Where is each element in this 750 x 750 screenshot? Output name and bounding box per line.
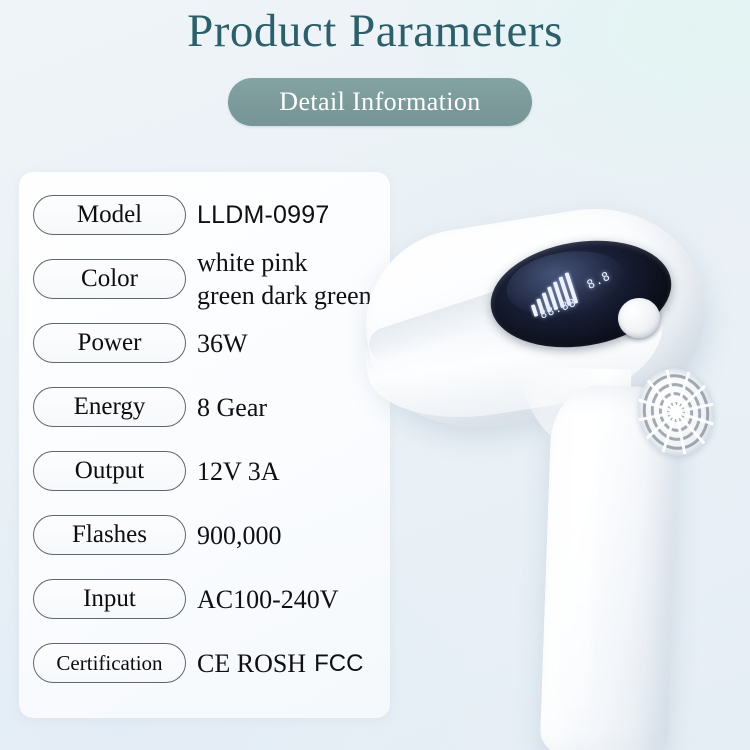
spec-label-certification: Certification	[33, 643, 186, 683]
detail-information-badge: Detail Information	[228, 78, 532, 126]
spec-value-color-line2: green dark green	[197, 279, 372, 312]
spec-value-energy: 8 Gear	[197, 387, 267, 427]
spec-label-input: Input	[33, 579, 186, 619]
spec-label-flashes: Flashes	[33, 515, 186, 555]
spec-value-color: white pink green dark green	[197, 243, 372, 315]
product-parameters-infographic: Product Parameters Detail Information Mo…	[0, 0, 750, 750]
spec-value-model: LLDM-0997	[197, 195, 329, 235]
spec-label-model: Model	[33, 195, 186, 235]
page-title: Product Parameters	[0, 2, 750, 60]
spec-value-output: 12V 3A	[197, 451, 280, 491]
spec-label-color: Color	[33, 259, 186, 299]
spec-label-energy: Energy	[33, 387, 186, 427]
product-device-image: 88:88 8.8	[350, 200, 750, 750]
spec-label-output: Output	[33, 451, 186, 491]
spec-value-input: AC100-240V	[197, 579, 339, 619]
spec-value-certification: CE ROSH FCC	[197, 643, 363, 683]
spec-value-color-line1: white pink	[197, 246, 308, 279]
spec-value-power: 36W	[197, 323, 248, 363]
spec-value-certification-primary: CE ROSH	[197, 648, 306, 679]
spec-value-flashes: 900,000	[197, 515, 282, 555]
spec-label-power: Power	[33, 323, 186, 363]
lcd-digits-secondary: 8.8	[585, 269, 613, 292]
